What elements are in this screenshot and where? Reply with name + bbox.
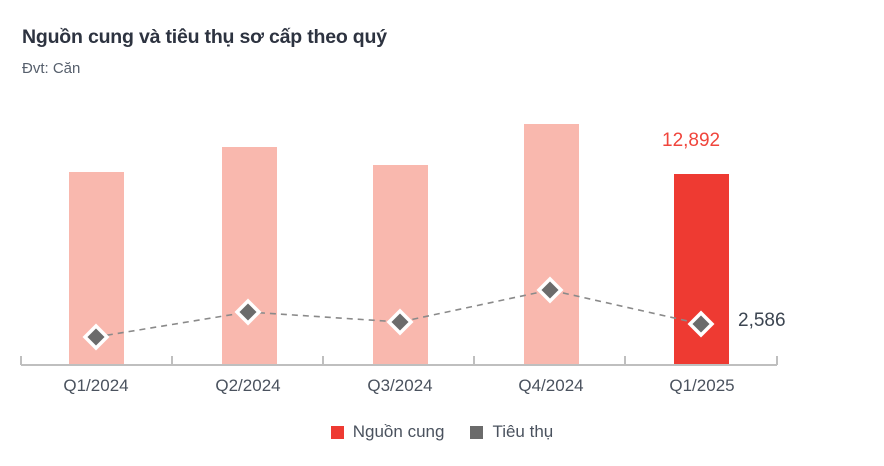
legend-label: Nguồn cung (353, 422, 445, 442)
chart-container: Nguồn cung và tiêu thụ sơ cấp theo quý Đ… (0, 0, 884, 466)
x-axis-label-Q1-2024: Q1/2024 (63, 376, 128, 396)
supply-value-label: 12,892 (662, 130, 720, 152)
x-axis-label-Q2-2024: Q2/2024 (215, 376, 280, 396)
x-axis-label-Q1-2025: Q1/2025 (669, 376, 734, 396)
x-axis-label-Q3-2024: Q3/2024 (367, 376, 432, 396)
legend-item-absorption[interactable]: Tiêu thụ (470, 422, 553, 442)
legend-item-supply[interactable]: Nguồn cung (331, 422, 445, 442)
plot-area: 12,892 2,586 Q1/2024Q2/2024Q3/2024Q4/202… (0, 0, 884, 400)
supply-bar-Q4-2024 (524, 124, 579, 365)
chart-svg (0, 0, 884, 400)
square-marker-icon (470, 426, 483, 439)
legend-label: Tiêu thụ (492, 422, 553, 442)
square-marker-icon (331, 426, 344, 439)
supply-bar-Q2-2024 (222, 147, 277, 365)
absorption-value-label: 2,586 (738, 310, 786, 332)
chart-legend: Nguồn cungTiêu thụ (0, 422, 884, 442)
supply-bar-Q3-2024 (373, 165, 428, 365)
x-axis-label-Q4-2024: Q4/2024 (518, 376, 583, 396)
